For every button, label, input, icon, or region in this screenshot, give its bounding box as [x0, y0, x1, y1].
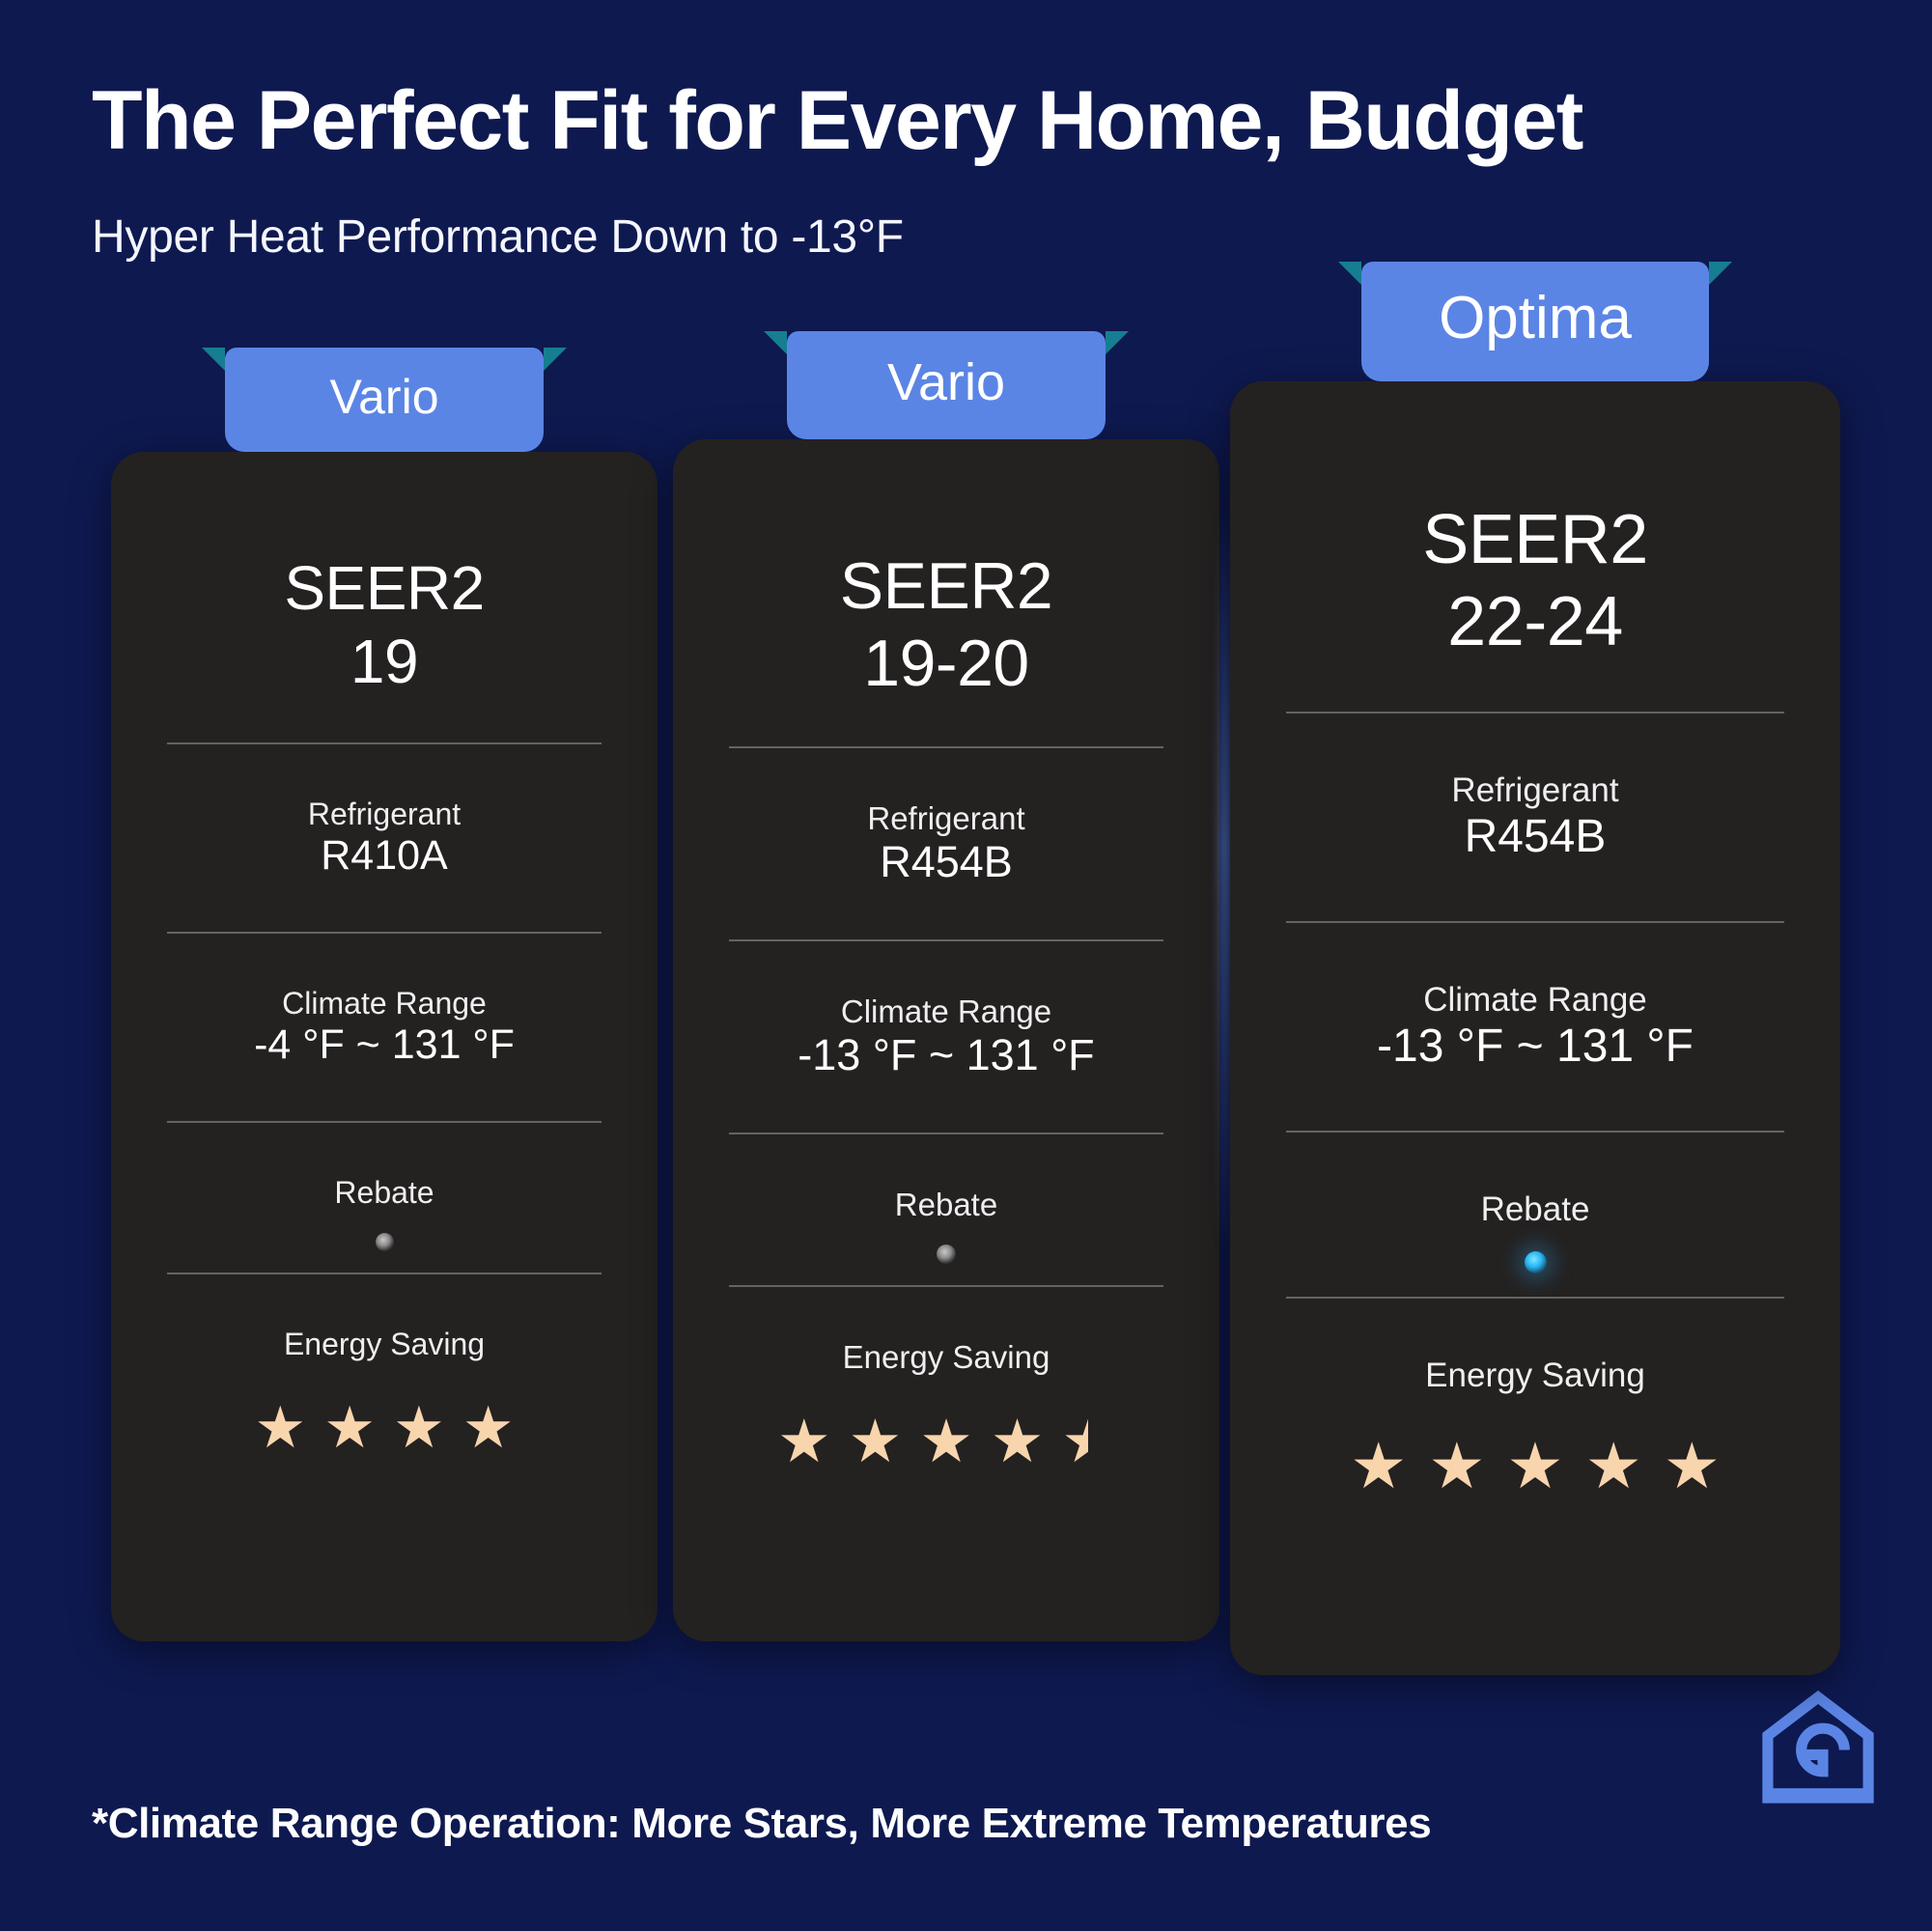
- product-card-vario-19[interactable]: Vario SEER2 19 Refrigerant R410A Climate…: [111, 452, 658, 1641]
- rebate-indicator: [1525, 1229, 1547, 1297]
- rebate-indicator: [376, 1211, 394, 1273]
- star-icon: ★: [991, 1413, 1045, 1472]
- energy-saving-stars: ★ ★ ★ ★ ★: [769, 1413, 1124, 1472]
- rebate-indicator: [937, 1223, 956, 1285]
- star-icon: ★: [462, 1399, 515, 1457]
- product-badge: Optima: [1361, 262, 1709, 381]
- climate-range-value: -4 °F ~ 131 °F: [254, 1021, 515, 1069]
- refrigerant-label: Refrigerant: [867, 800, 1024, 837]
- spec-energy-saving: Energy Saving ★ ★ ★ ★: [167, 1327, 602, 1457]
- spec-divider: [729, 1285, 1163, 1287]
- card-body: SEER2 19-20 Refrigerant R454B Climate Ra…: [673, 439, 1219, 1641]
- refrigerant-value: R410A: [321, 832, 447, 880]
- star-icon: ★: [777, 1413, 831, 1472]
- footnote: *Climate Range Operation: More Stars, Mo…: [92, 1800, 1431, 1848]
- spec-rebate: Rebate: [729, 1187, 1163, 1285]
- spec-divider: [729, 746, 1163, 748]
- seer-value: 22-24: [1447, 581, 1623, 663]
- energy-saving-label: Energy Saving: [1425, 1357, 1645, 1395]
- product-badge: Vario: [225, 348, 544, 452]
- energy-saving-label: Energy Saving: [843, 1339, 1050, 1376]
- seer-block: SEER2 19-20: [729, 547, 1163, 702]
- spec-divider: [729, 1133, 1163, 1134]
- rebate-label: Rebate: [334, 1175, 434, 1211]
- star-icon: ★: [919, 1413, 973, 1472]
- energy-saving-stars: ★ ★ ★ ★ ★: [1339, 1434, 1731, 1497]
- refrigerant-label: Refrigerant: [308, 797, 461, 832]
- star-icon: ★: [1350, 1434, 1407, 1497]
- seer-label: SEER2: [1422, 499, 1648, 581]
- seer-value: 19-20: [863, 625, 1028, 702]
- energy-saving-stars: ★ ★ ★ ★: [245, 1399, 522, 1457]
- seer-label: SEER2: [840, 547, 1053, 625]
- star-icon: ★: [393, 1399, 445, 1457]
- ribbon-fold-left-icon: [764, 331, 787, 354]
- climate-range-value: -13 °F ~ 131 °F: [1377, 1020, 1694, 1073]
- product-comparison-deck: Vario SEER2 19 Refrigerant R410A Climate…: [0, 0, 1932, 1931]
- spec-energy-saving: Energy Saving ★ ★ ★ ★ ★: [1286, 1357, 1784, 1497]
- energy-saving-label: Energy Saving: [284, 1327, 485, 1362]
- ribbon-fold-right-icon: [544, 348, 567, 371]
- product-badge-label: Optima: [1439, 285, 1632, 351]
- product-card-optima-22-24[interactable]: Optima SEER2 22-24 Refrigerant R454B Cli…: [1230, 381, 1840, 1675]
- spec-refrigerant: Refrigerant R454B: [729, 800, 1163, 887]
- spec-energy-saving: Energy Saving ★ ★ ★ ★ ★: [729, 1339, 1163, 1472]
- spec-rebate: Rebate: [1286, 1190, 1784, 1297]
- seer-block: SEER2 22-24: [1286, 499, 1784, 663]
- ribbon-fold-left-icon: [1338, 262, 1361, 285]
- star-icon: ★: [849, 1413, 903, 1472]
- house-g-logo-icon: [1758, 1688, 1878, 1807]
- spec-climate-range: Climate Range -13 °F ~ 131 °F: [729, 993, 1163, 1080]
- spec-divider: [1286, 921, 1784, 923]
- spec-divider: [167, 742, 602, 744]
- star-icon: ★: [1428, 1434, 1485, 1497]
- spec-refrigerant: Refrigerant R454B: [1286, 771, 1784, 863]
- ribbon-fold-right-icon: [1106, 331, 1129, 354]
- product-badge-label: Vario: [887, 353, 1005, 411]
- card-body: SEER2 19 Refrigerant R410A Climate Range…: [111, 452, 658, 1641]
- star-icon: ★: [1664, 1434, 1721, 1497]
- seer-label: SEER2: [284, 552, 484, 626]
- star-icon: ★: [323, 1399, 376, 1457]
- climate-range-label: Climate Range: [282, 986, 487, 1021]
- rebate-dot-icon: [376, 1233, 394, 1251]
- spec-climate-range: Climate Range -13 °F ~ 131 °F: [1286, 981, 1784, 1073]
- spec-divider: [729, 939, 1163, 941]
- product-card-vario-19-20[interactable]: Vario SEER2 19-20 Refrigerant R454B Clim…: [673, 439, 1219, 1641]
- spec-climate-range: Climate Range -4 °F ~ 131 °F: [167, 986, 602, 1069]
- spec-divider: [1286, 712, 1784, 714]
- rebate-label: Rebate: [895, 1187, 997, 1223]
- spec-divider: [1286, 1131, 1784, 1133]
- spec-rebate: Rebate: [167, 1175, 602, 1273]
- spec-divider: [167, 932, 602, 934]
- seer-value: 19: [350, 626, 418, 699]
- product-badge-label: Vario: [329, 370, 438, 424]
- spec-refrigerant: Refrigerant R410A: [167, 797, 602, 880]
- spec-divider: [167, 1121, 602, 1123]
- star-icon: ★: [1506, 1434, 1563, 1497]
- card-body: SEER2 22-24 Refrigerant R454B Climate Ra…: [1230, 381, 1840, 1675]
- rebate-label: Rebate: [1481, 1190, 1590, 1229]
- spec-divider: [167, 1273, 602, 1274]
- refrigerant-value: R454B: [1465, 810, 1607, 863]
- climate-range-value: -13 °F ~ 131 °F: [798, 1030, 1094, 1080]
- product-badge: Vario: [787, 331, 1106, 439]
- ribbon-fold-left-icon: [202, 348, 225, 371]
- star-icon: ★: [254, 1399, 306, 1457]
- rebate-dot-icon: [1525, 1251, 1547, 1273]
- rebate-dot-icon: [937, 1245, 956, 1264]
- star-half-icon: ★: [1061, 1413, 1115, 1472]
- refrigerant-label: Refrigerant: [1451, 771, 1618, 810]
- spec-divider: [1286, 1297, 1784, 1299]
- climate-range-label: Climate Range: [841, 993, 1051, 1030]
- seer-block: SEER2 19: [167, 552, 602, 698]
- refrigerant-value: R454B: [880, 837, 1013, 887]
- ribbon-fold-right-icon: [1709, 262, 1732, 285]
- star-icon: ★: [1585, 1434, 1642, 1497]
- climate-range-label: Climate Range: [1423, 981, 1647, 1020]
